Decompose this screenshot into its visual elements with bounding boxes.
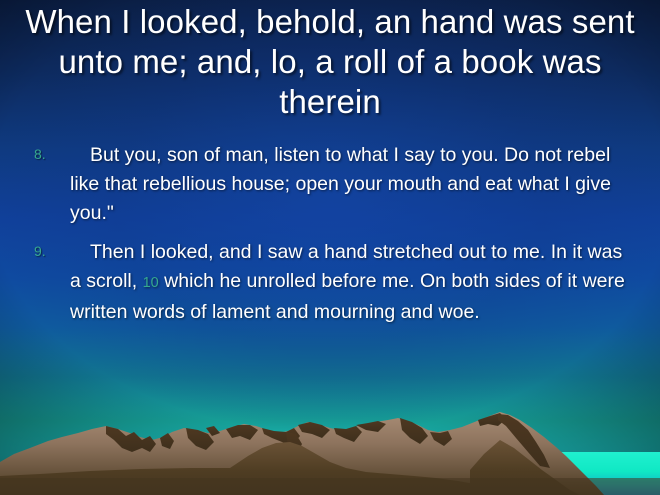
slide-title: When I looked, behold, an hand was sent … bbox=[18, 2, 642, 122]
verse-number-marker: 9. bbox=[34, 241, 46, 261]
verse-body-text: But you, son of man, listen to what I sa… bbox=[70, 141, 636, 227]
inline-verse-number: 10 bbox=[143, 275, 159, 291]
list-item: 8. But you, son of man, listen to what I… bbox=[28, 141, 636, 227]
verse-number-marker: 8. bbox=[34, 144, 46, 164]
verse-body-text: Then I looked, and I saw a hand stretche… bbox=[70, 238, 636, 326]
presentation-slide: When I looked, behold, an hand was sent … bbox=[0, 0, 660, 495]
list-item: 9. Then I looked, and I saw a hand stret… bbox=[28, 238, 636, 326]
foreground-base-shading bbox=[0, 478, 660, 495]
verse-list: 8. But you, son of man, listen to what I… bbox=[28, 141, 636, 338]
verse-text-segment-before: But you, son of man, listen to what I sa… bbox=[70, 144, 611, 224]
